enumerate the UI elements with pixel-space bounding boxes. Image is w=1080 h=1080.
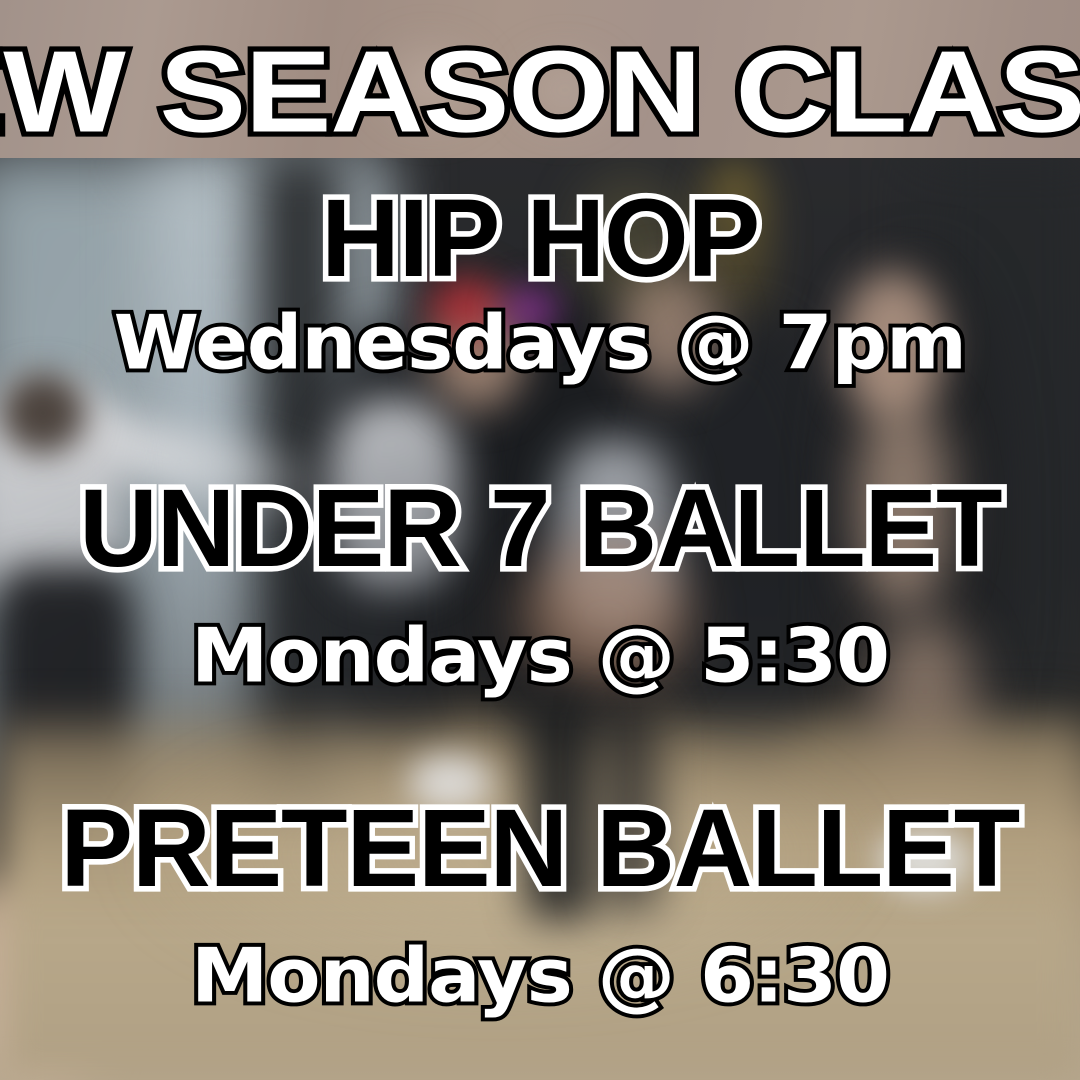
class-name-under-7-ballet-text: UNDER 7 BALLET xyxy=(79,472,1001,583)
class-name-hip-hop-text: HIP HOP xyxy=(321,182,759,293)
class-schedule-hip-hop: Wednesdays @ 7pm xyxy=(0,305,1080,381)
class-schedule-hip-hop-text: Wednesdays @ 7pm xyxy=(114,306,966,380)
class-schedule-under-7-ballet: Mondays @ 5:30 xyxy=(0,618,1080,694)
class-name-preteen-ballet-text: PRETEEN BALLET xyxy=(61,792,1020,903)
class-schedule-preteen-ballet: Mondays @ 6:30 xyxy=(0,938,1080,1014)
dancer-left-head-blur xyxy=(0,372,86,454)
class-name-preteen-ballet: PRETEEN BALLET xyxy=(0,798,1080,897)
page-title: NEW SEASON CLASSES xyxy=(0,42,1080,142)
page-title-text: NEW SEASON CLASSES xyxy=(0,34,1080,150)
class-name-under-7-ballet: UNDER 7 BALLET xyxy=(0,478,1080,577)
class-name-hip-hop: HIP HOP xyxy=(0,188,1080,287)
class-schedule-poster: NEW SEASON CLASSES HIP HOP Wednesdays @ … xyxy=(0,0,1080,1080)
class-schedule-under-7-ballet-text: Mondays @ 5:30 xyxy=(191,619,889,693)
class-schedule-preteen-ballet-text: Mondays @ 6:30 xyxy=(191,939,889,1013)
